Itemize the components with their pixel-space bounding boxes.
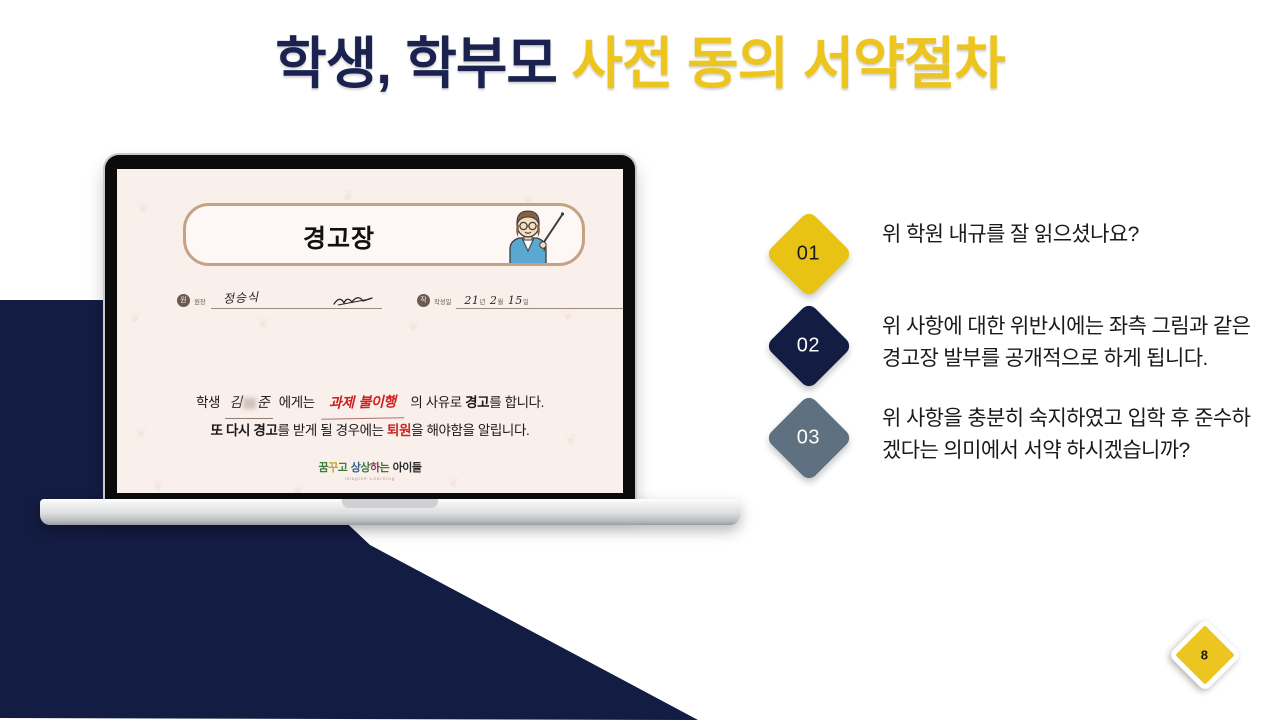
line2-mid: 를 받게 될 경우에는 xyxy=(277,423,387,438)
handwritten-signature-icon xyxy=(332,293,374,307)
warning-reason-field: 과제 불이행 xyxy=(321,390,404,419)
certificate-body: 학생 김준 에게는 과제 불이행 의 사유로 경고를 합니다. 또 다시 경고를… xyxy=(117,391,623,444)
page-number: 8 xyxy=(1201,647,1208,662)
laptop-notch xyxy=(342,499,438,508)
student-name-right: 준 xyxy=(257,395,269,411)
step-number-badge-02: 02 xyxy=(765,302,853,390)
student-name-field: 김준 xyxy=(225,391,273,419)
agreement-steps-list: 01 위 학원 내규를 잘 읽으셨나요? 02 위 사항에 대한 위반시에는 좌… xyxy=(760,215,1260,491)
list-item: 03 위 사항을 충분히 숙지하였고 입학 후 준수하겠다는 의미에서 서약 하… xyxy=(760,399,1260,469)
brand-logo-text: 꿈꾸고 상상하는 아이들 xyxy=(117,459,623,475)
student-name-left: 김 xyxy=(229,395,241,411)
page-title-primary: 학생, 학부모 xyxy=(275,32,571,95)
date-line: 21년 2월 15일 xyxy=(456,291,623,309)
certificate-signature-row: 원 원장 정승식 작 작성 xyxy=(177,287,581,309)
leaf-watermark-icon: ❦ xyxy=(562,307,575,325)
page-title: 학생, 학부모 사전 동의 서약절차 xyxy=(0,36,1280,92)
certificate-body-line-2: 또 다시 경고를 받게 될 경우에는 퇴원을 해야함을 알립니다. xyxy=(117,419,623,444)
director-name-value: 정승식 xyxy=(222,288,259,307)
laptop-base xyxy=(40,499,740,525)
line1-emphasis: 경고 xyxy=(465,395,489,410)
date-seal-icon: 작 xyxy=(417,294,430,307)
date-label: 작성일 xyxy=(434,296,451,306)
line1-suffix: 를 합니다. xyxy=(489,395,544,410)
line1-mid2: 의 사유로 xyxy=(407,395,465,410)
step-number-badge-01: 01 xyxy=(765,210,853,298)
leaf-watermark-icon: ❦ xyxy=(257,314,270,332)
line2-emphasis: 또 다시 경고 xyxy=(211,423,278,438)
certificate-header-box: 경고장 xyxy=(183,203,585,266)
list-item: 01 위 학원 내규를 잘 읽으셨나요? xyxy=(760,215,1260,285)
line1-prefix: 학생 xyxy=(196,395,223,410)
certificate-body-line-1: 학생 김준 에게는 과제 불이행 의 사유로 경고를 합니다. xyxy=(117,391,623,419)
director-signature-line: 정승식 xyxy=(211,291,382,309)
director-seal-icon: 원 xyxy=(177,294,190,307)
step-text-02: 위 사항에 대한 위반시에는 좌측 그림과 같은 경고장 발부를 공개적으로 하… xyxy=(882,311,1260,375)
date-year-value: 21 xyxy=(464,294,479,307)
brand-logo: 꿈꾸고 상상하는 아이들 Imagine Learning xyxy=(117,459,623,481)
date-value: 21년 2월 15일 xyxy=(464,294,529,307)
step-text-03: 위 사항을 충분히 숙지하였고 입학 후 준수하겠다는 의미에서 서약 하시겠습… xyxy=(882,403,1260,467)
line1-mid1: 에게는 xyxy=(275,395,318,410)
step-number-03: 03 xyxy=(797,427,820,450)
laptop-mockup: ❦ ❦ ❦ ❦ ❦ ❦ ❦ ❦ ❦ ❦ ❦ ❦ 경고장 xyxy=(40,155,740,555)
step-text-01: 위 학원 내규를 잘 읽으셨나요? xyxy=(882,219,1260,251)
leaf-watermark-icon: ❦ xyxy=(137,199,150,217)
withdrawal-emphasis: 퇴원 xyxy=(387,423,411,438)
date-year-unit: 년 xyxy=(479,298,485,306)
leaf-watermark-icon: ❦ xyxy=(129,309,142,327)
leaf-watermark-icon: ❦ xyxy=(292,481,305,493)
director-label: 원장 xyxy=(194,296,206,306)
student-name-masked xyxy=(243,398,256,409)
leaf-watermark-icon: ❦ xyxy=(407,317,420,335)
teacher-illustration-icon xyxy=(492,207,564,265)
date-day-unit: 일 xyxy=(523,298,529,306)
director-signature-group: 원 원장 정승식 xyxy=(177,287,382,309)
line2-suffix: 을 해야함을 알립니다. xyxy=(411,423,529,438)
page-number-badge: 8 xyxy=(1168,618,1242,692)
brand-logo-subtext: Imagine Learning xyxy=(117,476,623,481)
page-title-accent: 사전 동의 서약절차 xyxy=(572,32,1005,95)
step-number-badge-03: 03 xyxy=(765,394,853,482)
laptop-screen: ❦ ❦ ❦ ❦ ❦ ❦ ❦ ❦ ❦ ❦ ❦ ❦ 경고장 xyxy=(117,169,623,493)
date-month-unit: 월 xyxy=(497,298,503,306)
slide-canvas: 학생, 학부모 사전 동의 서약절차 ❦ ❦ ❦ ❦ ❦ ❦ ❦ ❦ ❦ ❦ ❦ xyxy=(0,0,1280,720)
laptop-lid: ❦ ❦ ❦ ❦ ❦ ❦ ❦ ❦ ❦ ❦ ❦ ❦ 경고장 xyxy=(105,155,635,505)
list-item: 02 위 사항에 대한 위반시에는 좌측 그림과 같은 경고장 발부를 공개적으… xyxy=(760,307,1260,377)
step-number-02: 02 xyxy=(797,335,820,358)
warning-certificate: ❦ ❦ ❦ ❦ ❦ ❦ ❦ ❦ ❦ ❦ ❦ ❦ 경고장 xyxy=(117,169,623,493)
date-group: 작 작성일 21년 2월 15일 xyxy=(417,287,623,309)
date-day-value: 15 xyxy=(508,294,523,307)
step-number-01: 01 xyxy=(797,243,820,266)
